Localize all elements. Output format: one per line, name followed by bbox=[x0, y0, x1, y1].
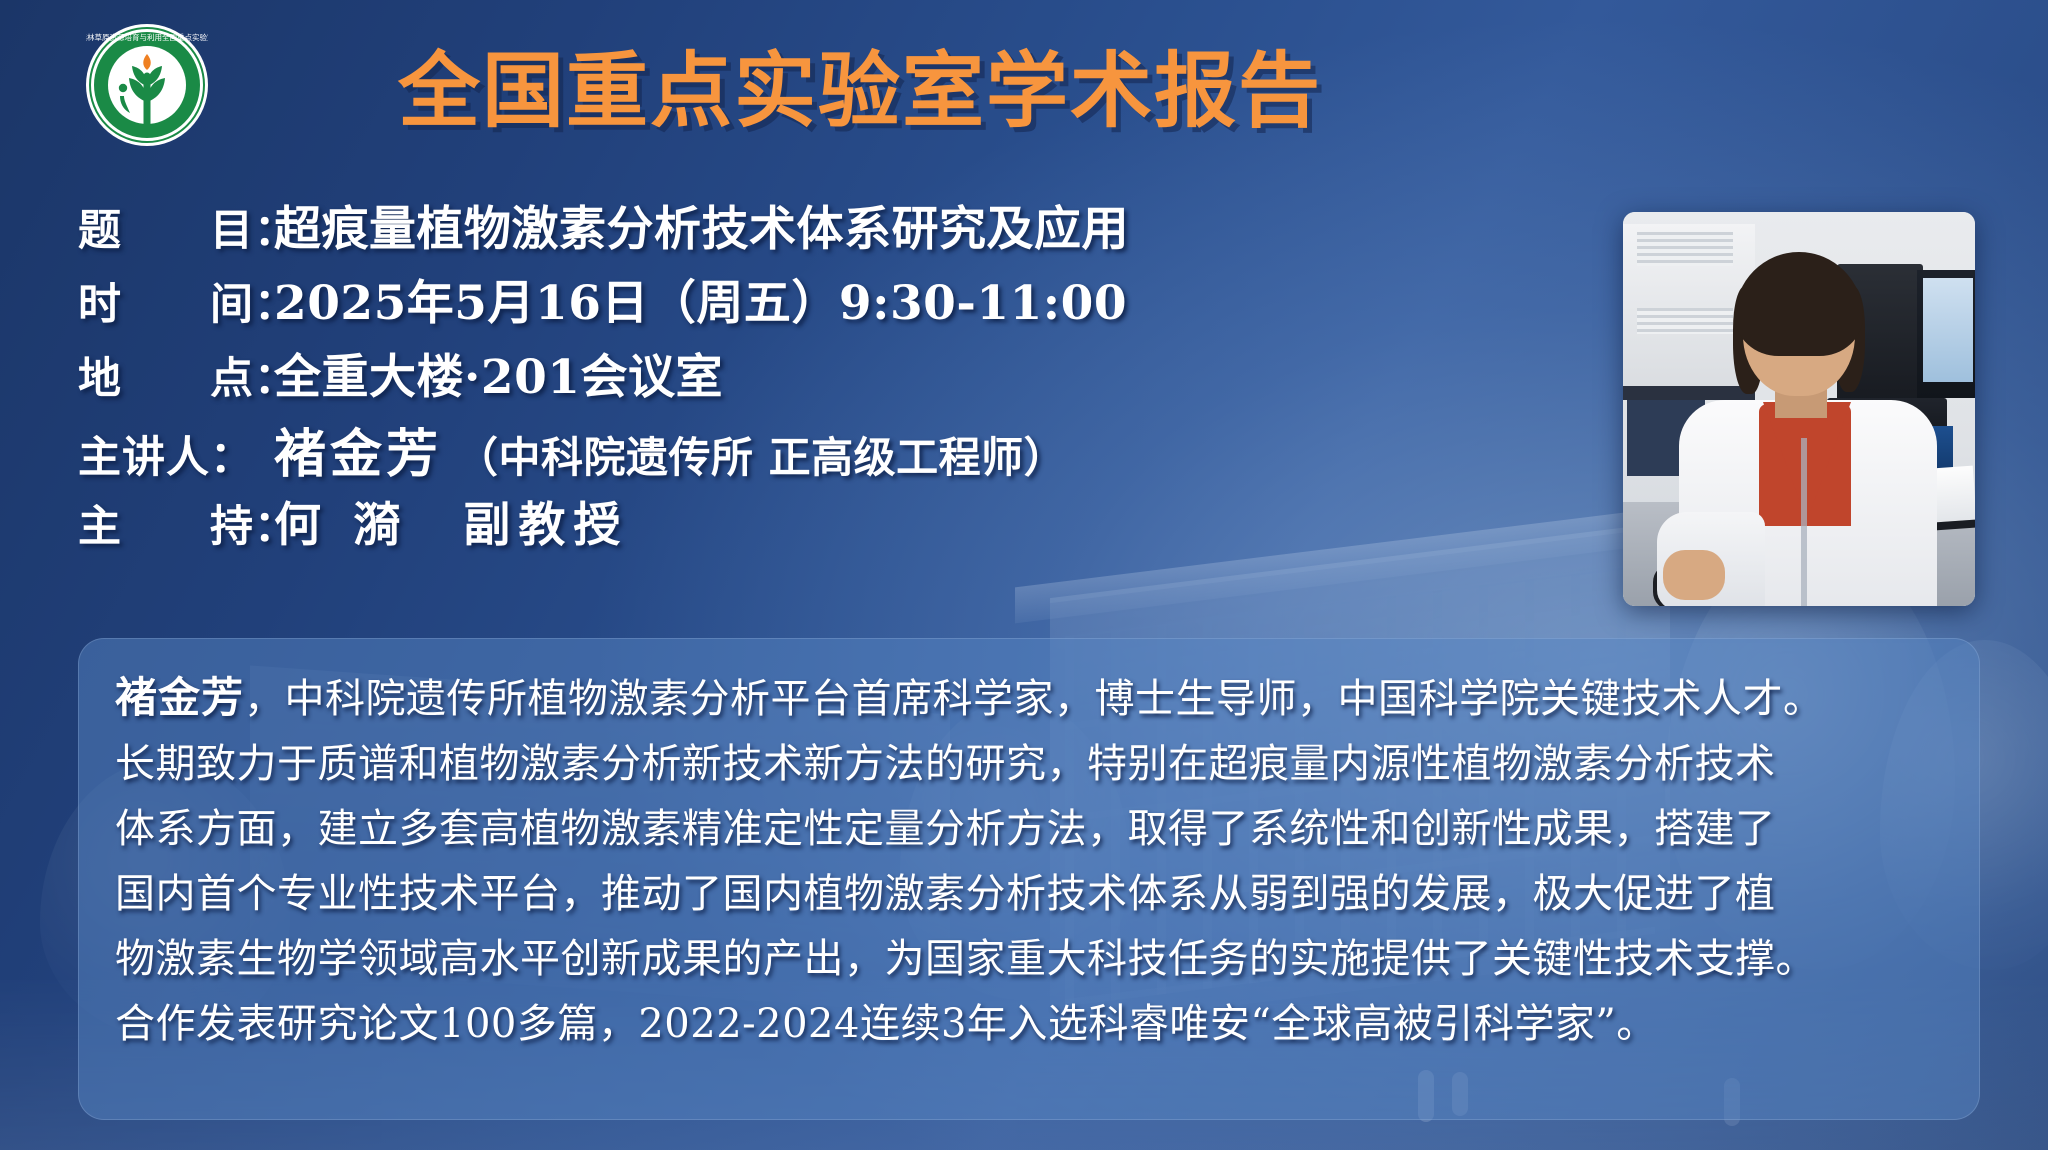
topic-label: 题 目： bbox=[78, 196, 274, 258]
speaker-portrait-photo bbox=[1623, 212, 1975, 606]
info-row-time: 时 间： 2025年5月16日（周五）9:30-11:00 bbox=[78, 264, 1558, 338]
poster-header: 森林草原资源培育与利用全国重点实验室 全国重点实验室学术报告 bbox=[0, 0, 2048, 152]
info-row-host: 主 持： 何 漪 副教授 bbox=[78, 486, 1558, 560]
topic-value: 超痕量植物激素分析技术体系研究及应用 bbox=[274, 190, 1129, 259]
bio-line-text: ，中科院遗传所植物激素分析平台首席科学家，博士生导师，中国科学院关键技术人才。 bbox=[244, 676, 1824, 722]
info-row-speaker: 主讲人： 褚金芳 （中科院遗传所 正高级工程师） bbox=[78, 412, 1558, 486]
venue-value: 全重大楼·201会议室 bbox=[274, 338, 723, 407]
page-title: 全国重点实验室学术报告 bbox=[398, 24, 1322, 143]
bio-line: 长期致力于质谱和植物激素分析新技术新方法的研究，特别在超痕量内源性植物激素分析技… bbox=[115, 732, 1943, 797]
speaker-biography-panel: 褚金芳，中科院遗传所植物激素分析平台首席科学家，博士生导师，中国科学院关键技术人… bbox=[78, 638, 1980, 1120]
info-row-topic: 题 目： 超痕量植物激素分析技术体系研究及应用 bbox=[78, 190, 1558, 264]
venue-label: 地 点： bbox=[78, 344, 274, 406]
host-value: 何 漪 副教授 bbox=[274, 486, 628, 555]
bio-line: 褚金芳，中科院遗传所植物激素分析平台首席科学家，博士生导师，中国科学院关键技术人… bbox=[115, 665, 1943, 732]
svg-text:森林草原资源培育与利用全国重点实验室: 森林草原资源培育与利用全国重点实验室 bbox=[86, 32, 208, 42]
portrait-monitor-screen bbox=[1923, 278, 1973, 382]
bio-line: 体系方面，建立多套高植物激素精准定性定量分析方法，取得了系统性和创新性成果，搭建… bbox=[115, 797, 1943, 862]
host-label: 主 持： bbox=[78, 492, 274, 554]
time-label: 时 间： bbox=[78, 270, 274, 332]
info-row-venue: 地 点： 全重大楼·201会议室 bbox=[78, 338, 1558, 412]
laboratory-logo-icon: 森林草原资源培育与利用全国重点实验室 bbox=[86, 24, 208, 146]
bio-line: 合作发表研究论文100多篇，2022-2024连续3年入选科睿唯安“全球高被引科… bbox=[115, 992, 1943, 1057]
portrait-hand bbox=[1663, 550, 1725, 600]
seminar-info-list: 题 目： 超痕量植物激素分析技术体系研究及应用 时 间： 2025年5月16日（… bbox=[78, 190, 1558, 560]
bio-speaker-name: 褚金芳 bbox=[115, 673, 244, 722]
time-value: 2025年5月16日（周五）9:30-11:00 bbox=[274, 264, 1127, 333]
bio-line: 物激素生物学领域高水平创新成果的产出，为国家重大科技任务的实施提供了关键性技术支… bbox=[115, 927, 1943, 992]
portrait-coat-seam bbox=[1801, 438, 1807, 606]
portrait-instrument-vent bbox=[1637, 308, 1733, 334]
seminar-poster: 森林草原资源培育与利用全国重点实验室 全国重点实验室学术报告 题 目： 超痕量植… bbox=[0, 0, 2048, 1150]
bio-line: 国内首个专业性技术平台，推动了国内植物激素分析技术体系从弱到强的发展，极大促进了… bbox=[115, 862, 1943, 927]
speaker-label: 主讲人： bbox=[78, 423, 274, 485]
speaker-name: 褚金芳 bbox=[274, 412, 442, 487]
speaker-affiliation: （中科院遗传所 正高级工程师） bbox=[456, 424, 1066, 485]
portrait-coat-opening bbox=[1763, 402, 1851, 520]
portrait-instrument-vent bbox=[1637, 232, 1733, 266]
